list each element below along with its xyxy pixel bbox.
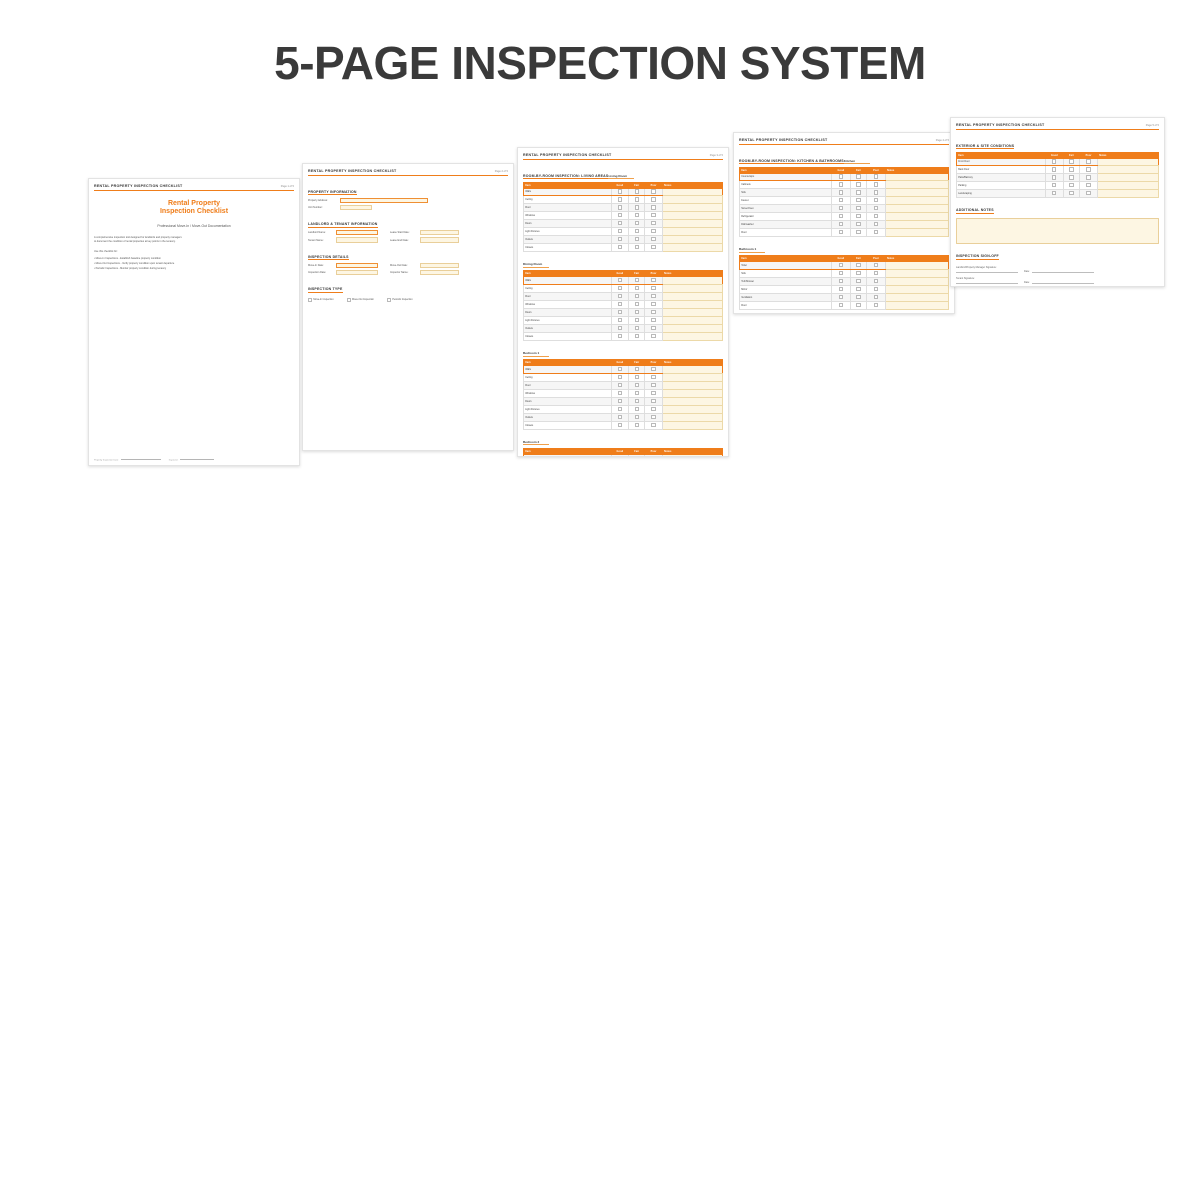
rating-cell-good[interactable] [1045, 190, 1063, 198]
rating-cell-good[interactable] [832, 286, 851, 294]
rating-cell-good[interactable] [832, 181, 851, 189]
checkbox-fair[interactable] [635, 310, 639, 314]
checkbox-good[interactable] [839, 182, 843, 186]
notes-cell[interactable] [662, 212, 722, 220]
notes-cell[interactable] [662, 381, 722, 389]
rating-cell-good[interactable] [611, 244, 629, 252]
checkbox-poor[interactable] [651, 456, 655, 457]
rating-cell-fair[interactable] [629, 366, 645, 374]
rating-cell-fair[interactable] [850, 213, 867, 221]
checkbox-fair[interactable] [635, 189, 639, 193]
rating-cell-poor[interactable] [645, 413, 663, 421]
rating-cell-poor[interactable] [867, 197, 886, 205]
rating-cell-poor[interactable] [645, 397, 663, 405]
notes-cell[interactable] [662, 317, 722, 325]
rating-cell-fair[interactable] [850, 221, 867, 229]
rating-cell-poor[interactable] [645, 366, 663, 374]
checkbox-poor[interactable] [1086, 159, 1090, 163]
field-input[interactable] [336, 270, 378, 275]
field-input[interactable] [420, 237, 459, 242]
checkbox-good[interactable] [618, 415, 622, 419]
notes-cell[interactable] [662, 309, 722, 317]
rating-cell-fair[interactable] [629, 381, 645, 389]
checkbox-fair[interactable] [635, 237, 639, 241]
checkbox-poor[interactable] [651, 383, 655, 387]
checkbox-good[interactable] [618, 197, 622, 201]
rating-cell-fair[interactable] [629, 413, 645, 421]
field-input[interactable] [336, 237, 378, 242]
rating-cell-good[interactable] [611, 309, 629, 317]
rating-cell-poor[interactable] [645, 212, 663, 220]
checkbox-good[interactable] [839, 303, 843, 307]
checkbox-poor[interactable] [651, 294, 655, 298]
checkbox-good[interactable] [618, 221, 622, 225]
rating-cell-fair[interactable] [1063, 182, 1079, 190]
checkbox[interactable] [347, 298, 351, 302]
checkbox-good[interactable] [1052, 167, 1056, 171]
checkbox-fair[interactable] [635, 334, 639, 338]
rating-cell-good[interactable] [611, 285, 629, 293]
rating-cell-fair[interactable] [629, 236, 645, 244]
rating-cell-good[interactable] [611, 212, 629, 220]
checkbox-fair[interactable] [856, 222, 860, 226]
rating-cell-poor[interactable] [645, 317, 663, 325]
rating-cell-poor[interactable] [645, 236, 663, 244]
rating-cell-fair[interactable] [1063, 166, 1079, 174]
notes-cell[interactable] [885, 302, 948, 310]
rating-cell-poor[interactable] [645, 301, 663, 309]
checkbox-poor[interactable] [651, 423, 655, 427]
rating-cell-good[interactable] [611, 204, 629, 212]
rating-cell-good[interactable] [611, 196, 629, 204]
field-input[interactable] [420, 270, 459, 275]
rating-cell-fair[interactable] [850, 262, 867, 270]
rating-cell-poor[interactable] [645, 333, 663, 341]
rating-cell-fair[interactable] [850, 286, 867, 294]
rating-cell-fair[interactable] [850, 189, 867, 197]
rating-cell-poor[interactable] [645, 204, 663, 212]
rating-cell-fair[interactable] [629, 333, 645, 341]
checkbox-poor[interactable] [651, 278, 655, 282]
checkbox-poor[interactable] [651, 237, 655, 241]
checkbox-fair[interactable] [856, 295, 860, 299]
notes-cell[interactable] [662, 244, 722, 252]
rating-cell-good[interactable] [611, 301, 629, 309]
notes-cell[interactable] [662, 204, 722, 212]
checkbox-good[interactable] [618, 302, 622, 306]
checkbox-good[interactable] [618, 326, 622, 330]
rating-cell-poor[interactable] [867, 278, 886, 286]
field-input[interactable] [420, 263, 459, 268]
notes-cell[interactable] [662, 454, 722, 457]
field-input[interactable] [336, 263, 378, 268]
checkbox-poor[interactable] [1086, 183, 1090, 187]
notes-cell[interactable] [662, 333, 722, 341]
rating-cell-poor[interactable] [645, 389, 663, 397]
checkbox-poor[interactable] [651, 189, 655, 193]
checkbox-fair[interactable] [856, 182, 860, 186]
checkbox-poor[interactable] [874, 214, 878, 218]
notes-cell[interactable] [662, 373, 722, 381]
date-line[interactable] [1032, 269, 1094, 273]
footer-date-line[interactable] [121, 457, 161, 460]
notes-cell[interactable] [885, 262, 948, 270]
checkbox-fair[interactable] [635, 367, 639, 371]
checkbox-good[interactable] [618, 237, 622, 241]
checkbox-good[interactable] [618, 367, 622, 371]
rating-cell-poor[interactable] [645, 277, 663, 285]
rating-cell-poor[interactable] [867, 213, 886, 221]
checkbox-fair[interactable] [856, 198, 860, 202]
rating-cell-good[interactable] [611, 366, 629, 374]
checkbox-fair[interactable] [856, 206, 860, 210]
checkbox-good[interactable] [618, 334, 622, 338]
checkbox-fair[interactable] [635, 213, 639, 217]
notes-cell[interactable] [1098, 174, 1159, 182]
rating-cell-poor[interactable] [867, 270, 886, 278]
rating-cell-fair[interactable] [629, 317, 645, 325]
notes-cell[interactable] [662, 389, 722, 397]
checkbox-fair[interactable] [635, 245, 639, 249]
checkbox-good[interactable] [618, 245, 622, 249]
rating-cell-good[interactable] [832, 221, 851, 229]
checkbox-good[interactable] [1052, 191, 1056, 195]
rating-cell-fair[interactable] [629, 244, 645, 252]
checkbox-poor[interactable] [651, 334, 655, 338]
checkbox-fair[interactable] [856, 230, 860, 234]
footer-inspector-line[interactable] [180, 457, 214, 460]
checkbox-fair[interactable] [1069, 159, 1073, 163]
checkbox-fair[interactable] [635, 197, 639, 201]
rating-cell-fair[interactable] [1063, 190, 1079, 198]
rating-cell-poor[interactable] [1080, 182, 1098, 190]
rating-cell-poor[interactable] [1080, 190, 1098, 198]
checkbox-fair[interactable] [856, 263, 860, 267]
checkbox-good[interactable] [618, 213, 622, 217]
checkbox-good[interactable] [618, 294, 622, 298]
checkbox-poor[interactable] [874, 222, 878, 226]
checkbox-poor[interactable] [651, 318, 655, 322]
checkbox-poor[interactable] [651, 375, 655, 379]
rating-cell-poor[interactable] [645, 244, 663, 252]
rating-cell-fair[interactable] [629, 389, 645, 397]
signature-line[interactable] [956, 280, 1018, 284]
checkbox-good[interactable] [839, 263, 843, 267]
checkbox-fair[interactable] [635, 423, 639, 427]
rating-cell-good[interactable] [611, 397, 629, 405]
rating-cell-poor[interactable] [645, 454, 663, 457]
checkbox-fair[interactable] [856, 174, 860, 178]
signature-line[interactable] [956, 269, 1018, 273]
checkbox-good[interactable] [618, 189, 622, 193]
checkbox-poor[interactable] [874, 287, 878, 291]
rating-cell-fair[interactable] [629, 325, 645, 333]
rating-cell-good[interactable] [611, 277, 629, 285]
checkbox-poor[interactable] [651, 205, 655, 209]
rating-cell-poor[interactable] [645, 405, 663, 413]
checkbox-good[interactable] [839, 279, 843, 283]
rating-cell-fair[interactable] [629, 301, 645, 309]
checkbox-good[interactable] [618, 391, 622, 395]
rating-cell-good[interactable] [611, 333, 629, 341]
checkbox-fair[interactable] [635, 326, 639, 330]
rating-cell-fair[interactable] [629, 228, 645, 236]
rating-cell-good[interactable] [611, 293, 629, 301]
checkbox-poor[interactable] [651, 407, 655, 411]
checkbox-poor[interactable] [1086, 175, 1090, 179]
notes-cell[interactable] [885, 197, 948, 205]
checkbox-poor[interactable] [874, 182, 878, 186]
checkbox-fair[interactable] [856, 214, 860, 218]
checkbox-poor[interactable] [651, 326, 655, 330]
rating-cell-fair[interactable] [629, 212, 645, 220]
checkbox-fair[interactable] [1069, 191, 1073, 195]
checkbox-fair[interactable] [856, 279, 860, 283]
notes-cell[interactable] [662, 220, 722, 228]
rating-cell-good[interactable] [611, 317, 629, 325]
rating-cell-good[interactable] [611, 325, 629, 333]
checkbox[interactable] [387, 298, 391, 302]
inspection-type-option[interactable]: Move-In Inspection [308, 298, 334, 302]
rating-cell-good[interactable] [832, 270, 851, 278]
rating-cell-good[interactable] [611, 373, 629, 381]
rating-cell-fair[interactable] [850, 173, 867, 181]
rating-cell-good[interactable] [611, 405, 629, 413]
rating-cell-poor[interactable] [645, 325, 663, 333]
rating-cell-good[interactable] [832, 294, 851, 302]
rating-cell-poor[interactable] [867, 286, 886, 294]
checkbox-poor[interactable] [651, 302, 655, 306]
rating-cell-good[interactable] [832, 229, 851, 237]
checkbox-fair[interactable] [856, 190, 860, 194]
rating-cell-good[interactable] [611, 220, 629, 228]
checkbox-good[interactable] [618, 278, 622, 282]
rating-cell-fair[interactable] [629, 421, 645, 429]
inspection-type-option[interactable]: Move-Out Inspection [347, 298, 374, 302]
rating-cell-fair[interactable] [629, 309, 645, 317]
checkbox-good[interactable] [839, 190, 843, 194]
rating-cell-poor[interactable] [867, 205, 886, 213]
checkbox-poor[interactable] [874, 206, 878, 210]
rating-cell-good[interactable] [611, 389, 629, 397]
rating-cell-good[interactable] [611, 188, 629, 196]
rating-cell-poor[interactable] [867, 229, 886, 237]
field-input[interactable] [420, 230, 459, 235]
checkbox-good[interactable] [839, 271, 843, 275]
checkbox-poor[interactable] [874, 295, 878, 299]
checkbox-good[interactable] [618, 375, 622, 379]
rating-cell-poor[interactable] [867, 302, 886, 310]
rating-cell-good[interactable] [832, 278, 851, 286]
rating-cell-good[interactable] [832, 173, 851, 181]
rating-cell-fair[interactable] [629, 220, 645, 228]
rating-cell-poor[interactable] [867, 262, 886, 270]
checkbox-fair[interactable] [635, 294, 639, 298]
rating-cell-fair[interactable] [629, 188, 645, 196]
checkbox-fair[interactable] [635, 407, 639, 411]
rating-cell-good[interactable] [1045, 166, 1063, 174]
rating-cell-poor[interactable] [645, 309, 663, 317]
checkbox-good[interactable] [839, 287, 843, 291]
rating-cell-poor[interactable] [1080, 166, 1098, 174]
checkbox-fair[interactable] [635, 278, 639, 282]
checkbox-good[interactable] [618, 310, 622, 314]
checkbox-good[interactable] [618, 399, 622, 403]
rating-cell-fair[interactable] [629, 373, 645, 381]
rating-cell-poor[interactable] [645, 285, 663, 293]
checkbox-good[interactable] [618, 205, 622, 209]
checkbox-fair[interactable] [635, 399, 639, 403]
notes-cell[interactable] [885, 213, 948, 221]
checkbox-fair[interactable] [635, 302, 639, 306]
checkbox-poor[interactable] [651, 245, 655, 249]
rating-cell-fair[interactable] [850, 229, 867, 237]
notes-cell[interactable] [885, 181, 948, 189]
rating-cell-poor[interactable] [645, 373, 663, 381]
rating-cell-poor[interactable] [867, 221, 886, 229]
notes-cell[interactable] [662, 285, 722, 293]
notes-cell[interactable] [1098, 182, 1159, 190]
checkbox-fair[interactable] [1069, 167, 1073, 171]
checkbox-poor[interactable] [651, 399, 655, 403]
checkbox-good[interactable] [618, 407, 622, 411]
checkbox-fair[interactable] [635, 415, 639, 419]
checkbox-poor[interactable] [1086, 167, 1090, 171]
checkbox-good[interactable] [618, 318, 622, 322]
checkbox-good[interactable] [1052, 159, 1056, 163]
checkbox-good[interactable] [839, 174, 843, 178]
rating-cell-poor[interactable] [1080, 174, 1098, 182]
checkbox-fair[interactable] [635, 318, 639, 322]
rating-cell-good[interactable] [611, 236, 629, 244]
checkbox-poor[interactable] [651, 310, 655, 314]
notes-cell[interactable] [662, 236, 722, 244]
rating-cell-good[interactable] [1045, 158, 1063, 166]
notes-cell[interactable] [662, 413, 722, 421]
rating-cell-fair[interactable] [850, 278, 867, 286]
rating-cell-fair[interactable] [1063, 158, 1079, 166]
additional-notes-area[interactable] [956, 218, 1159, 244]
rating-cell-poor[interactable] [645, 220, 663, 228]
rating-cell-good[interactable] [832, 302, 851, 310]
checkbox-poor[interactable] [651, 229, 655, 233]
checkbox-poor[interactable] [874, 271, 878, 275]
notes-cell[interactable] [885, 278, 948, 286]
checkbox-poor[interactable] [651, 391, 655, 395]
notes-cell[interactable] [885, 173, 948, 181]
checkbox-fair[interactable] [1069, 183, 1073, 187]
checkbox-fair[interactable] [635, 456, 639, 457]
checkbox-good[interactable] [618, 229, 622, 233]
notes-cell[interactable] [662, 421, 722, 429]
notes-cell[interactable] [885, 286, 948, 294]
rating-cell-poor[interactable] [645, 196, 663, 204]
checkbox-fair[interactable] [856, 287, 860, 291]
checkbox-fair[interactable] [635, 375, 639, 379]
notes-cell[interactable] [885, 294, 948, 302]
rating-cell-fair[interactable] [850, 181, 867, 189]
notes-cell[interactable] [662, 366, 722, 374]
checkbox-fair[interactable] [856, 303, 860, 307]
rating-cell-poor[interactable] [867, 189, 886, 197]
checkbox-poor[interactable] [874, 190, 878, 194]
rating-cell-good[interactable] [832, 262, 851, 270]
rating-cell-fair[interactable] [629, 196, 645, 204]
rating-cell-poor[interactable] [645, 188, 663, 196]
checkbox-good[interactable] [618, 423, 622, 427]
rating-cell-good[interactable] [832, 197, 851, 205]
checkbox-fair[interactable] [635, 383, 639, 387]
notes-cell[interactable] [885, 189, 948, 197]
checkbox-good[interactable] [618, 383, 622, 387]
checkbox-poor[interactable] [651, 415, 655, 419]
checkbox-good[interactable] [1052, 183, 1056, 187]
checkbox-good[interactable] [839, 214, 843, 218]
notes-cell[interactable] [662, 228, 722, 236]
checkbox-poor[interactable] [651, 367, 655, 371]
notes-cell[interactable] [662, 301, 722, 309]
rating-cell-fair[interactable] [629, 277, 645, 285]
rating-cell-fair[interactable] [850, 205, 867, 213]
notes-cell[interactable] [1098, 190, 1159, 198]
field-input[interactable] [340, 205, 372, 210]
notes-cell[interactable] [885, 229, 948, 237]
notes-cell[interactable] [885, 205, 948, 213]
checkbox-poor[interactable] [1086, 191, 1090, 195]
notes-cell[interactable] [662, 405, 722, 413]
rating-cell-good[interactable] [611, 413, 629, 421]
field-input[interactable] [336, 230, 378, 235]
checkbox-poor[interactable] [651, 286, 655, 290]
checkbox-fair[interactable] [635, 205, 639, 209]
checkbox-poor[interactable] [874, 279, 878, 283]
rating-cell-fair[interactable] [629, 454, 645, 457]
rating-cell-fair[interactable] [850, 294, 867, 302]
rating-cell-fair[interactable] [850, 270, 867, 278]
checkbox-poor[interactable] [651, 197, 655, 201]
rating-cell-poor[interactable] [867, 181, 886, 189]
date-line[interactable] [1032, 280, 1094, 284]
rating-cell-fair[interactable] [629, 397, 645, 405]
rating-cell-good[interactable] [611, 228, 629, 236]
checkbox-poor[interactable] [874, 174, 878, 178]
rating-cell-good[interactable] [611, 421, 629, 429]
notes-cell[interactable] [662, 277, 722, 285]
rating-cell-fair[interactable] [629, 293, 645, 301]
rating-cell-poor[interactable] [867, 173, 886, 181]
checkbox-fair[interactable] [856, 271, 860, 275]
notes-cell[interactable] [662, 397, 722, 405]
checkbox-good[interactable] [839, 206, 843, 210]
checkbox-good[interactable] [839, 295, 843, 299]
rating-cell-poor[interactable] [645, 381, 663, 389]
notes-cell[interactable] [1098, 158, 1159, 166]
rating-cell-good[interactable] [832, 205, 851, 213]
rating-cell-fair[interactable] [629, 405, 645, 413]
checkbox-good[interactable] [1052, 175, 1056, 179]
checkbox[interactable] [308, 298, 312, 302]
checkbox-fair[interactable] [635, 286, 639, 290]
notes-cell[interactable] [885, 221, 948, 229]
rating-cell-fair[interactable] [629, 204, 645, 212]
rating-cell-poor[interactable] [645, 421, 663, 429]
rating-cell-fair[interactable] [629, 285, 645, 293]
checkbox-fair[interactable] [635, 391, 639, 395]
checkbox-poor[interactable] [651, 213, 655, 217]
rating-cell-good[interactable] [611, 381, 629, 389]
checkbox-poor[interactable] [651, 221, 655, 225]
checkbox-poor[interactable] [874, 303, 878, 307]
